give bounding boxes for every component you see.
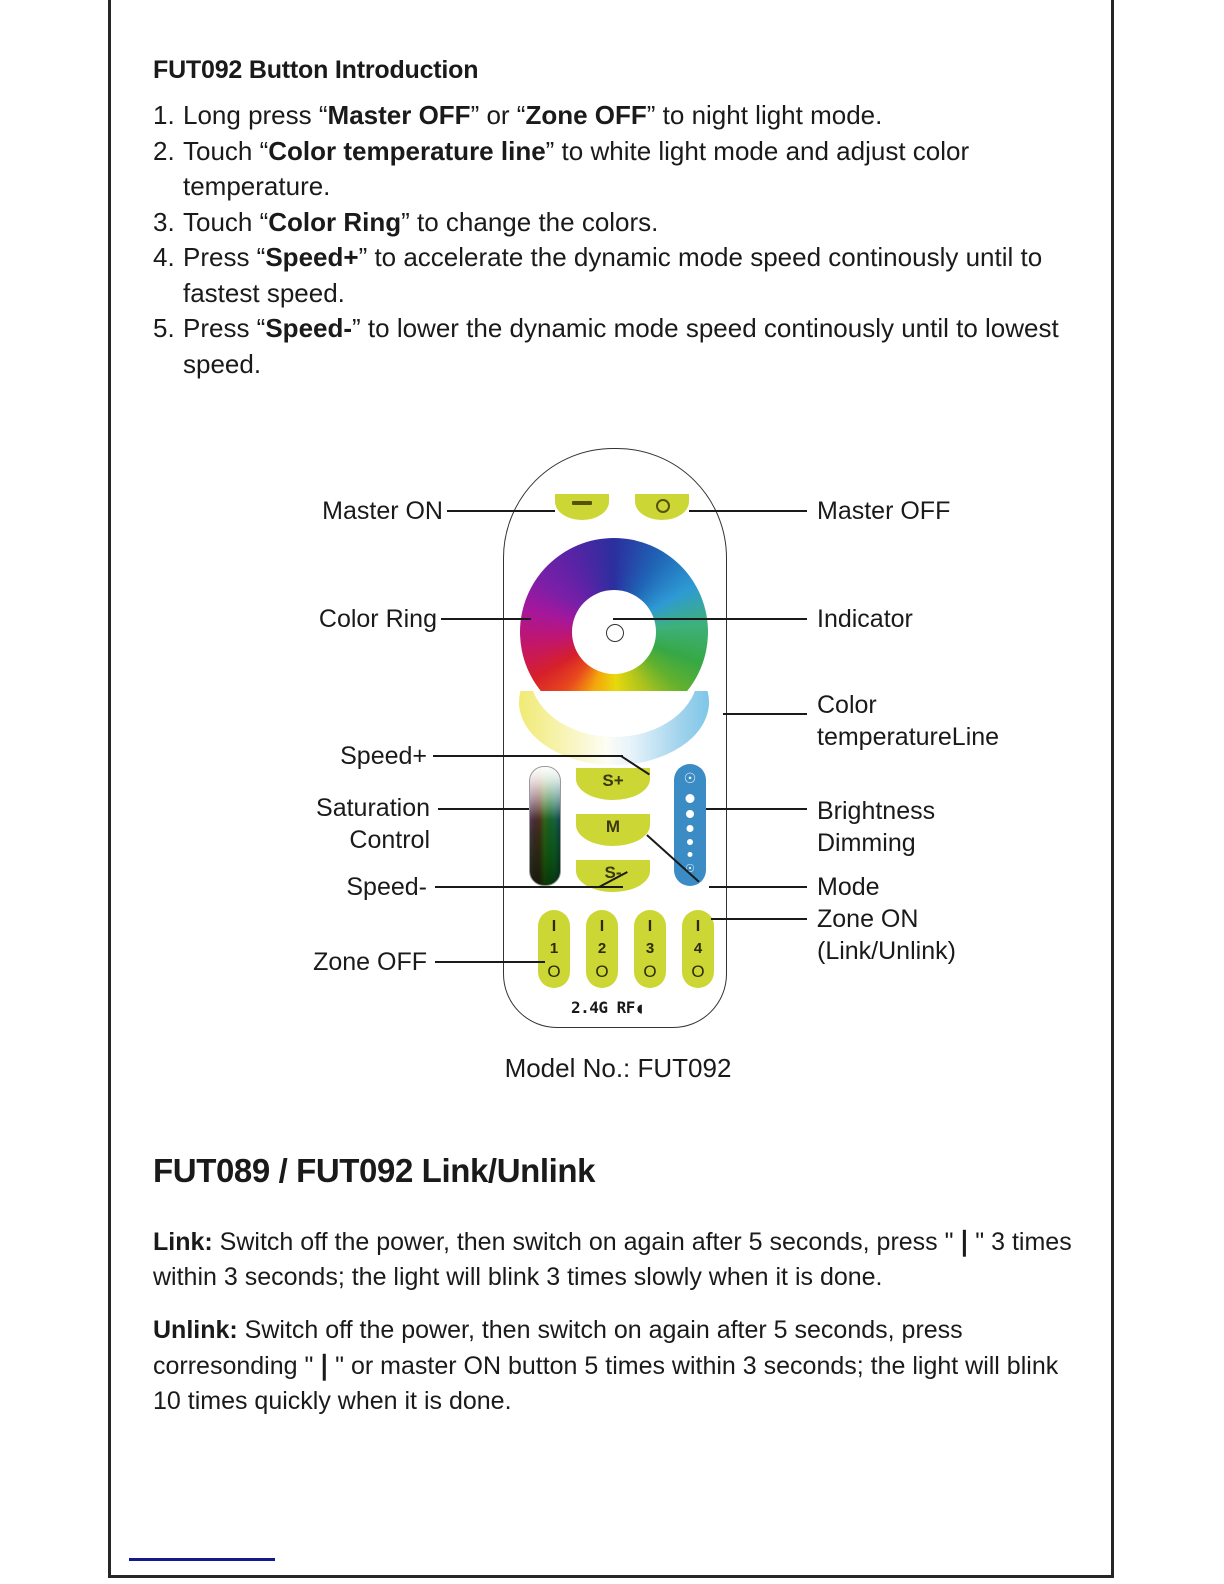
step-emphasis: Zone OFF (525, 100, 646, 130)
brightness-dot-1 (686, 794, 695, 803)
step-number: 5. (153, 311, 183, 347)
step-plain: Touch “ (183, 136, 268, 166)
mode-label: M (576, 817, 650, 837)
zone-3-off-label: O (634, 962, 666, 982)
zone-button-2[interactable]: I 2 O (586, 910, 618, 988)
step-text: Press “Speed-” to lower the dynamic mode… (183, 311, 1083, 382)
label-zone-off: Zone OFF (227, 947, 427, 978)
zone-2-on-label: I (586, 918, 618, 936)
label-color-ring: Color Ring (227, 604, 437, 635)
leader-mode (709, 886, 807, 888)
step-plain: ” or “ (471, 100, 526, 130)
leader-master-on (447, 510, 555, 512)
zone-3-on-label: I (634, 918, 666, 936)
leader-indicator (613, 618, 807, 620)
label-master-on: Master ON (227, 496, 443, 527)
zone-4-off-label: O (682, 962, 714, 982)
indicator-dot-icon (606, 624, 624, 642)
master-off-icon (656, 499, 670, 513)
zone-button-1[interactable]: I 1 O (538, 910, 570, 988)
saturation-overlay (530, 767, 560, 885)
zone-button-3[interactable]: I 3 O (634, 910, 666, 988)
leader-speed-minus (435, 886, 623, 888)
step-plain: ” to change the colors. (401, 207, 658, 237)
label-speed-plus: Speed+ (227, 741, 427, 772)
page-content: FUT092 Button Introduction 1.Long press … (153, 0, 1083, 1419)
leader-master-off (689, 510, 807, 512)
brightness-dimming-strip[interactable]: ☉ ☉ (674, 764, 706, 886)
link-pipe-icon: ❘ (954, 1226, 976, 1256)
step-number: 4. (153, 240, 183, 276)
rf-signal-icon: ◖ (635, 999, 644, 1017)
label-mode: Mode (817, 872, 880, 903)
paragraph-unlink: Unlink: Switch off the power, then switc… (153, 1313, 1083, 1419)
section-heading-link-unlink: FUT089 / FUT092 Link/Unlink (153, 1152, 1083, 1190)
document-page: FUT092 Button Introduction 1.Long press … (108, 0, 1114, 1578)
step-number: 2. (153, 134, 183, 170)
label-speed-minus: Speed- (227, 872, 427, 903)
rf-label: 2.4G RF (571, 998, 635, 1017)
unlink-pipe-icon: ❘ (313, 1350, 335, 1380)
remote-diagram: ☉ ☉ S+ M S- I 1 O (153, 448, 1083, 1108)
rf-logo: 2.4G RF◖ (571, 998, 643, 1017)
link-label: Link: (153, 1228, 213, 1256)
label-master-off: Master OFF (817, 496, 950, 527)
step-emphasis: Speed- (265, 313, 352, 343)
step-plain: Press “ (183, 313, 265, 343)
zone-2-number: 2 (586, 940, 618, 957)
step-number: 3. (153, 205, 183, 241)
zone-3-number: 3 (634, 940, 666, 957)
leader-brightness (706, 808, 807, 810)
unlink-label: Unlink: (153, 1316, 238, 1344)
leader-zone-on (711, 918, 807, 920)
step-plain: Press “ (183, 242, 265, 272)
zone-1-off-label: O (538, 962, 570, 982)
leader-zone-off (435, 961, 545, 963)
zone-1-on-label: I (538, 918, 570, 936)
label-saturation-line2: Control (227, 825, 430, 856)
label-indicator: Indicator (817, 604, 913, 635)
label-color-temperature-line1: Color (817, 690, 877, 721)
zone-1-number: 1 (538, 940, 570, 957)
step-emphasis: Color Ring (268, 207, 401, 237)
step-item: 2.Touch “Color temperature line” to whit… (153, 134, 1083, 205)
step-emphasis: Master OFF (328, 100, 471, 130)
zone-2-off-label: O (586, 962, 618, 982)
brightness-dot-5 (688, 852, 693, 857)
leader-saturation (438, 808, 529, 810)
label-saturation-line1: Saturation (227, 793, 430, 824)
label-color-temperature-line2: temperatureLine (817, 722, 999, 753)
label-brightness-line2: Dimming (817, 828, 916, 859)
label-brightness-line1: Brightness (817, 796, 935, 827)
step-item: 3.Touch “Color Ring” to change the color… (153, 205, 1083, 241)
step-text: Touch “Color temperature line” to white … (183, 134, 1083, 205)
model-caption: Model No.: FUT092 (153, 1053, 1083, 1084)
label-zone-on-line1: Zone ON (817, 904, 918, 935)
zone-4-on-label: I (682, 918, 714, 936)
paragraph-link: Link: Switch off the power, then switch … (153, 1224, 1083, 1295)
step-emphasis: Color temperature line (268, 136, 545, 166)
button-introduction-steps: 1.Long press “Master OFF” or “Zone OFF” … (153, 98, 1083, 382)
bottom-blue-rule (129, 1558, 275, 1561)
brightness-dot-2 (686, 810, 694, 818)
leader-color-ring (441, 618, 531, 620)
step-item: 1.Long press “Master OFF” or “Zone OFF” … (153, 98, 1083, 134)
step-item: 4.Press “Speed+” to accelerate the dynam… (153, 240, 1083, 311)
step-text: Press “Speed+” to accelerate the dynamic… (183, 240, 1083, 311)
zone-button-4[interactable]: I 4 O (682, 910, 714, 988)
step-plain: Long press “ (183, 100, 328, 130)
zone-4-number: 4 (682, 940, 714, 957)
leader-color-temperature (723, 713, 807, 715)
link-text-before: Switch off the power, then switch on aga… (213, 1228, 954, 1256)
brightness-dot-4 (687, 839, 693, 845)
step-emphasis: Speed+ (265, 242, 358, 272)
section-heading-button-introduction: FUT092 Button Introduction (153, 56, 1083, 85)
saturation-control-strip[interactable] (529, 766, 561, 886)
speed-plus-label: S+ (576, 771, 650, 791)
step-plain: Touch “ (183, 207, 268, 237)
sun-large-icon: ☉ (684, 771, 697, 785)
step-plain: ” to night light mode. (647, 100, 883, 130)
master-on-icon (572, 501, 592, 505)
label-zone-on-line2: (Link/Unlink) (817, 936, 956, 967)
step-text: Touch “Color Ring” to change the colors. (183, 205, 1083, 241)
step-text: Long press “Master OFF” or “Zone OFF” to… (183, 98, 1083, 134)
brightness-dot-3 (687, 825, 694, 832)
step-item: 5.Press “Speed-” to lower the dynamic mo… (153, 311, 1083, 382)
color-temperature-line[interactable] (519, 691, 709, 765)
leader-speed-plus (433, 755, 623, 757)
step-number: 1. (153, 98, 183, 134)
